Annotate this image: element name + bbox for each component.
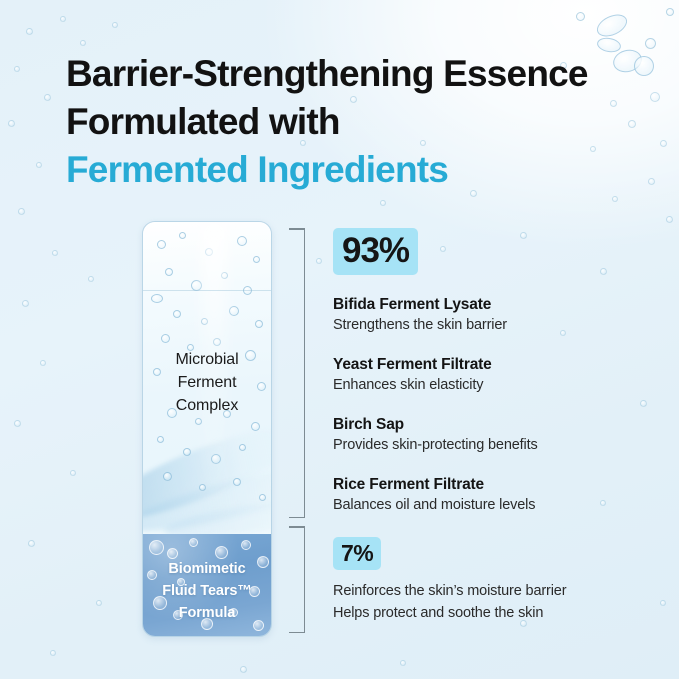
bracket-93-percent xyxy=(289,228,305,518)
bubble-decoration xyxy=(52,250,58,256)
bubble-decoration xyxy=(241,540,251,550)
list-item: Rice Ferment Filtrate Balances oil and m… xyxy=(333,474,653,516)
bubble-decoration xyxy=(593,10,630,41)
bottle-shoulder-line xyxy=(143,290,271,291)
bubble-decoration xyxy=(112,22,118,28)
bubble-decoration xyxy=(211,454,221,464)
headline-line-3-accent: Fermented Ingredients xyxy=(66,146,646,194)
list-item: Reinforces the skin’s moisture barrier xyxy=(333,580,653,602)
bubble-decoration xyxy=(60,16,66,22)
bubble-decoration xyxy=(163,472,172,481)
bubble-decoration xyxy=(233,478,241,486)
list-item: Helps protect and soothe the skin xyxy=(333,602,653,624)
bracket-vertical-bar xyxy=(304,228,306,518)
page-title: Barrier-Strengthening Essence Formulated… xyxy=(66,50,646,194)
bubble-decoration xyxy=(96,600,102,606)
bubble-decoration xyxy=(18,208,25,215)
bubble-decoration xyxy=(161,334,170,343)
bracket-7-percent xyxy=(289,526,305,633)
bubble-decoration xyxy=(28,540,35,547)
ingredient-name: Birch Sap xyxy=(333,414,653,435)
bottle-lower-label: Biomimetic Fluid Tears™ Formula xyxy=(143,558,271,624)
bracket-vertical-bar xyxy=(304,526,306,633)
bracket-arm-top xyxy=(289,526,305,528)
bottle-upper-section: Microbial Ferment Complex xyxy=(143,222,271,534)
bubble-decoration xyxy=(88,276,94,282)
bubble-decoration xyxy=(316,258,322,264)
bubble-decoration xyxy=(259,494,266,501)
bubble-decoration xyxy=(199,484,206,491)
bubble-decoration xyxy=(237,236,247,246)
bubble-decoration xyxy=(660,600,666,606)
list-item: Yeast Ferment Filtrate Enhances skin ela… xyxy=(333,354,653,396)
bubble-decoration xyxy=(50,650,56,656)
bracket-arm-bottom xyxy=(289,517,305,519)
percentage-badge-93: 93% xyxy=(333,228,418,275)
ingredient-list: Bifida Ferment Lysate Strengthens the sk… xyxy=(333,294,653,516)
panel-93-percent: 93% Bifida Ferment Lysate Strengthens th… xyxy=(333,228,653,516)
bubble-decoration xyxy=(40,360,46,366)
bubble-decoration xyxy=(70,470,76,476)
bubble-decoration xyxy=(151,294,163,303)
bubble-decoration xyxy=(666,8,674,16)
panel-7-percent: 7% Reinforces the skin’s moisture barrie… xyxy=(333,537,653,624)
bubble-decoration xyxy=(22,300,29,307)
product-bottle: Microbial Ferment Complex Biomimetic Flu… xyxy=(142,221,272,637)
bubble-decoration xyxy=(14,420,21,427)
headline-line-2: Formulated with xyxy=(66,98,646,146)
liquid-streak xyxy=(143,412,271,534)
bubble-decoration xyxy=(666,216,673,223)
bubble-decoration xyxy=(251,422,260,431)
bubble-decoration xyxy=(645,38,656,49)
bubble-decoration xyxy=(157,240,166,249)
bottle-lower-section: Biomimetic Fluid Tears™ Formula xyxy=(143,534,271,636)
bubble-decoration xyxy=(8,120,15,127)
bubble-decoration xyxy=(576,12,585,21)
bubble-decoration xyxy=(44,94,51,101)
bracket-arm-top xyxy=(289,228,305,230)
bottle-upper-label-line-3: Complex xyxy=(143,394,271,417)
benefit-list: Reinforces the skin’s moisture barrier H… xyxy=(333,580,653,624)
bubble-decoration xyxy=(26,28,33,35)
bubble-decoration xyxy=(239,444,246,451)
ingredient-description: Strengthens the skin barrier xyxy=(333,315,653,336)
bottle-upper-label: Microbial Ferment Complex xyxy=(143,348,271,417)
list-item: Bifida Ferment Lysate Strengthens the sk… xyxy=(333,294,653,336)
ingredient-description: Provides skin-protecting benefits xyxy=(333,435,653,456)
infographic-canvas: Barrier-Strengthening Essence Formulated… xyxy=(0,0,679,679)
bracket-arm-bottom xyxy=(289,632,305,634)
bubble-decoration xyxy=(650,92,660,102)
bubble-decoration xyxy=(189,538,198,547)
bubble-decoration xyxy=(36,162,42,168)
bubble-decoration xyxy=(240,666,247,673)
bottle-upper-label-line-1: Microbial xyxy=(143,348,271,371)
liquid-streak xyxy=(162,491,271,534)
bubble-decoration xyxy=(400,660,406,666)
bubble-decoration xyxy=(149,540,164,555)
bubble-decoration xyxy=(213,338,221,346)
bottle-upper-label-line-2: Ferment xyxy=(143,371,271,394)
bubble-decoration xyxy=(612,196,618,202)
ingredient-name: Bifida Ferment Lysate xyxy=(333,294,653,315)
bubble-decoration xyxy=(165,268,173,276)
bubble-decoration xyxy=(648,178,655,185)
bubble-decoration xyxy=(183,448,191,456)
ingredient-name: Rice Ferment Filtrate xyxy=(333,474,653,495)
ingredient-name: Yeast Ferment Filtrate xyxy=(333,354,653,375)
bubble-decoration xyxy=(243,286,252,295)
headline-line-1: Barrier-Strengthening Essence xyxy=(66,50,646,98)
bubble-decoration xyxy=(253,256,260,263)
ingredient-description: Balances oil and moisture levels xyxy=(333,495,653,516)
bubble-decoration xyxy=(229,306,239,316)
bubble-decoration xyxy=(205,248,213,256)
bubble-decoration xyxy=(221,272,228,279)
bubble-decoration xyxy=(195,418,202,425)
bottle-lower-label-line-1: Biomimetic xyxy=(143,558,271,580)
bubble-decoration xyxy=(380,200,386,206)
bubble-decoration xyxy=(157,436,164,443)
bubble-decoration xyxy=(80,40,86,46)
liquid-streak xyxy=(143,453,271,534)
bottle-lower-label-line-2: Fluid Tears™ xyxy=(143,580,271,602)
bubble-decoration xyxy=(191,280,202,291)
bubble-decoration xyxy=(179,232,186,239)
bottle-lower-label-line-3: Formula xyxy=(143,602,271,624)
list-item: Birch Sap Provides skin-protecting benef… xyxy=(333,414,653,456)
bubble-decoration xyxy=(14,66,20,72)
percentage-badge-7: 7% xyxy=(333,537,381,570)
bubble-decoration xyxy=(173,310,181,318)
ingredient-description: Enhances skin elasticity xyxy=(333,375,653,396)
bubble-decoration xyxy=(201,318,208,325)
bubble-decoration xyxy=(660,140,667,147)
bubble-decoration xyxy=(255,320,263,328)
